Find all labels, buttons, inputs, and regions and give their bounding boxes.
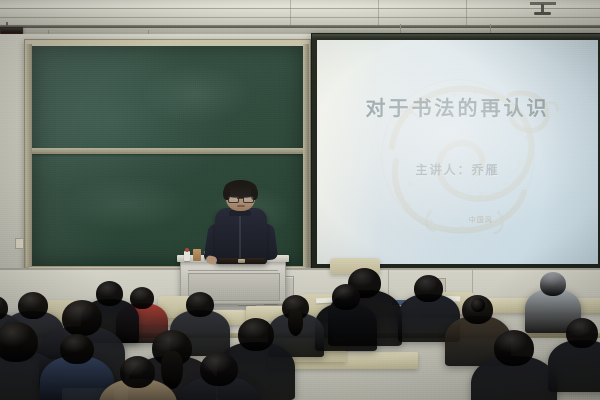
screen-top-bar	[312, 34, 600, 39]
blackboard-divider	[32, 148, 303, 154]
kraft-box[interactable]	[193, 249, 201, 261]
person-head	[96, 281, 123, 306]
ceiling-seam-vertical	[290, 0, 291, 28]
projector-mount-plate	[534, 12, 551, 15]
wall-trim	[0, 268, 600, 270]
person-head	[0, 322, 38, 362]
ceiling-seam	[0, 8, 600, 9]
person-head	[414, 275, 443, 302]
person-head	[494, 330, 534, 366]
person-head	[120, 356, 155, 388]
red-marker[interactable]	[185, 248, 189, 252]
presenter-belt-buckle	[238, 259, 245, 263]
lectern-seam	[188, 270, 278, 271]
person-head	[18, 292, 48, 319]
person-head	[200, 352, 238, 386]
blackboard-rail-left	[26, 44, 32, 267]
person-head	[60, 334, 94, 364]
paper-sheet[interactable]	[316, 298, 332, 304]
presenter-shirt-placket	[239, 214, 241, 260]
ponytail	[161, 351, 183, 389]
chalk-smudge	[142, 64, 252, 124]
presenter-glasses-bridge	[237, 198, 243, 199]
person-head	[186, 292, 214, 317]
projection-screen: 对于书法的再认识 主讲人：乔雁 中国风	[311, 33, 600, 272]
blackboard-rail-right	[303, 44, 309, 267]
presenter-mouth	[237, 205, 245, 207]
person-head	[540, 272, 566, 296]
hair-bun	[471, 298, 485, 312]
slide-vignette	[317, 40, 598, 264]
person-head	[332, 284, 360, 310]
ponytail	[288, 310, 303, 336]
white-cup[interactable]	[184, 251, 190, 261]
person-head	[566, 318, 598, 348]
presenter-glasses-right	[243, 196, 254, 203]
ceiling-seam-vertical	[466, 0, 467, 28]
light-switch[interactable]	[15, 238, 24, 249]
ceiling-seam	[0, 17, 600, 18]
presentation-slide: 对于书法的再认识 主讲人：乔雁 中国风	[317, 40, 598, 264]
presenter-torso	[215, 208, 267, 264]
chalk-smudge	[62, 176, 192, 231]
ceiling-seam-vertical	[378, 0, 379, 28]
lecture-hall-photo: 15	[0, 0, 600, 400]
person-head	[62, 300, 102, 336]
person-head	[238, 318, 274, 351]
